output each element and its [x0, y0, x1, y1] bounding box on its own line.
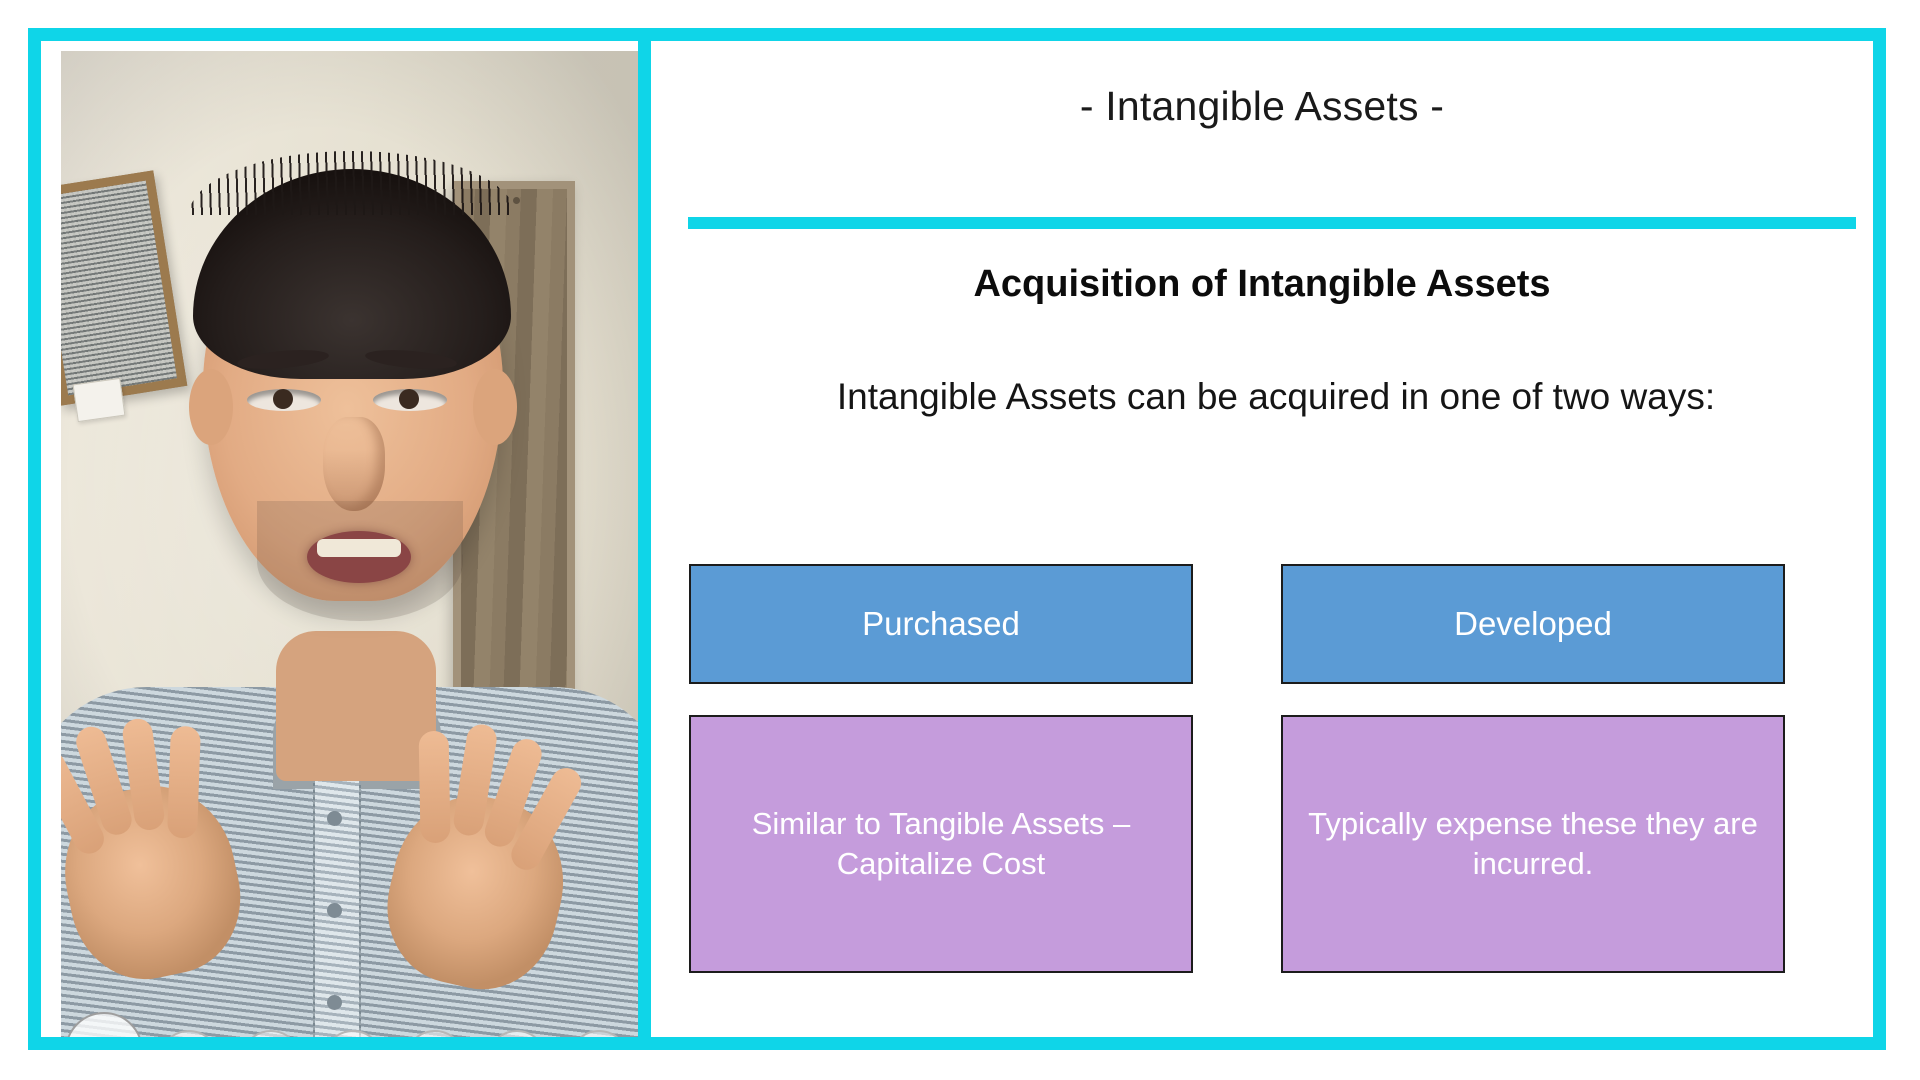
- shirt-button: [327, 811, 342, 826]
- video-pane[interactable]: ◁ ▸ ↶ ▭ ⚙ ○ ⛶: [41, 41, 638, 1037]
- presenter-shirt-placket: [313, 751, 361, 1037]
- slide-pane: - Intangible Assets - Acquisition of Int…: [651, 41, 1873, 1037]
- box-purchased-description-label: Similar to Tangible Assets – Capitalize …: [705, 804, 1177, 885]
- presenter-nose: [323, 417, 385, 511]
- presenter-webcam-feed[interactable]: ◁ ▸ ↶ ▭ ⚙ ○ ⛶: [61, 51, 638, 1037]
- pane-divider: [638, 41, 651, 1037]
- box-developed-description: Typically expense these they are incurre…: [1281, 715, 1785, 973]
- slide-body-text: Intangible Assets can be acquired in one…: [721, 371, 1831, 422]
- box-developed: Developed: [1281, 564, 1785, 684]
- shirt-button: [327, 995, 342, 1010]
- box-purchased: Purchased: [689, 564, 1193, 684]
- finger: [167, 726, 201, 839]
- presenter-ear-left: [189, 369, 233, 445]
- slide-title: - Intangible Assets -: [651, 83, 1873, 130]
- box-developed-label: Developed: [1297, 604, 1769, 644]
- title-underline-rule: [688, 217, 1856, 229]
- presenter-hair: [193, 169, 511, 379]
- presenter-mouth: [307, 531, 411, 583]
- pupil: [399, 389, 419, 409]
- presenter-eye-right: [373, 389, 447, 411]
- nail-decor: [513, 197, 520, 204]
- pupil: [273, 389, 293, 409]
- presentation-frame: ◁ ▸ ↶ ▭ ⚙ ○ ⛶ - Intangible Assets - Acqu…: [28, 28, 1886, 1050]
- light-switch-decor: [73, 378, 126, 422]
- box-purchased-description: Similar to Tangible Assets – Capitalize …: [689, 715, 1193, 973]
- presentation-screen: ◁ ▸ ↶ ▭ ⚙ ○ ⛶ - Intangible Assets - Acqu…: [0, 0, 1920, 1080]
- presenter-ear-right: [473, 369, 517, 445]
- shirt-button: [327, 903, 342, 918]
- presenter-neck: [276, 631, 436, 781]
- box-purchased-label: Purchased: [705, 604, 1177, 644]
- slide-heading: Acquisition of Intangible Assets: [651, 263, 1873, 306]
- presenter-eye-left: [247, 389, 321, 411]
- box-developed-description-label: Typically expense these they are incurre…: [1297, 804, 1769, 885]
- presenter-teeth: [317, 539, 401, 557]
- finger: [419, 731, 451, 844]
